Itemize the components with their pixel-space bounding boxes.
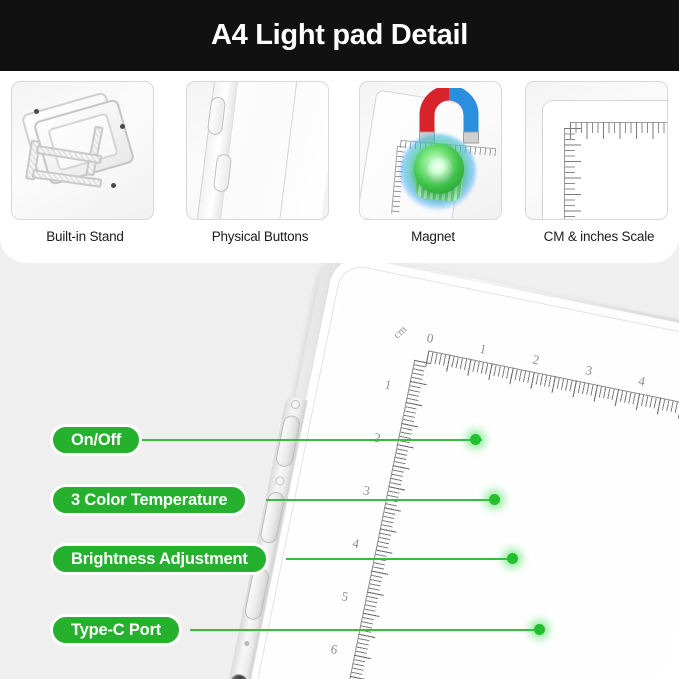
callout-type-c-port[interactable]: Type-C Port: [50, 614, 182, 646]
feature-card-built-in-stand[interactable]: Built-in Stand: [11, 81, 159, 244]
product-detail-page: A4 Light pad Detail Built-in Stand: [0, 0, 679, 679]
callout-label-brightness[interactable]: Brightness Adjustment: [50, 543, 269, 575]
feature-panel: Built-in Stand Physical Buttons: [0, 71, 679, 263]
callout-on-off[interactable]: On/Off: [50, 424, 142, 456]
callout-color-temperature[interactable]: 3 Color Temperature: [50, 484, 248, 516]
ruler-tick-h: 1: [478, 341, 488, 358]
feature-label-built-in-stand: Built-in Stand: [11, 229, 159, 244]
ruler-tick-v: 3: [362, 482, 372, 499]
scale-ruler-horizontal-major: [570, 122, 668, 139]
light-pad-device: cm 0 1 2 3 4 5 6 7 8 9 1 2 3 4 5 6: [208, 263, 679, 679]
callout-label-on-off[interactable]: On/Off: [50, 424, 142, 456]
feature-card-magnet[interactable]: Magnet: [359, 81, 507, 244]
callout-line: [140, 439, 482, 441]
ruler-tick-v: 1: [383, 377, 393, 394]
hero-product-area: cm 0 1 2 3 4 5 6 7 8 9 1 2 3 4 5 6: [0, 263, 679, 679]
callout-dot: [470, 434, 481, 445]
ruler-tick-v: 4: [351, 535, 361, 552]
callout-dot: [534, 624, 545, 635]
magnet-green-cylinder: [414, 144, 464, 194]
magnet-cylinder-core: [425, 155, 453, 183]
feature-image-scale: [525, 81, 668, 220]
ruler-unit-label: cm: [391, 323, 409, 341]
callout-label-color-temperature[interactable]: 3 Color Temperature: [50, 484, 248, 516]
header-banner: A4 Light pad Detail: [0, 0, 679, 71]
feature-image-built-in-stand: [11, 81, 154, 220]
panel-ruler-vertical-major: [321, 360, 431, 679]
stand-screw-dot: [120, 124, 125, 129]
ruler-tick-v: 5: [340, 588, 350, 605]
ruler-tick-h: 3: [584, 362, 594, 379]
feature-label-physical-buttons: Physical Buttons: [186, 229, 334, 244]
stand-screw-dot: [34, 109, 39, 114]
feature-thumbnail-row: Built-in Stand Physical Buttons: [0, 71, 679, 263]
stand-screw-dot: [111, 183, 116, 188]
callout-dot: [507, 553, 518, 564]
callout-dot: [489, 494, 500, 505]
ruler-tick-v: 6: [329, 641, 339, 658]
panel-ruler-horizontal-major: [425, 350, 679, 472]
feature-image-physical-buttons: [186, 81, 329, 220]
feature-card-physical-buttons[interactable]: Physical Buttons: [186, 81, 334, 244]
callout-line: [190, 629, 542, 631]
callout-brightness[interactable]: Brightness Adjustment: [50, 543, 269, 575]
callout-line: [286, 558, 516, 560]
ruler-tick-h: 4: [637, 373, 647, 390]
feature-card-scale[interactable]: CM & inches Scale: [525, 81, 673, 244]
feature-label-magnet: Magnet: [359, 229, 507, 244]
scale-pad-corner: [542, 100, 668, 220]
ruler-tick-h: 2: [531, 352, 541, 369]
ruler-tick-v: 2: [372, 429, 382, 446]
feature-label-scale: CM & inches Scale: [525, 229, 673, 244]
callout-label-type-c-port[interactable]: Type-C Port: [50, 614, 182, 646]
ruler-tick-h: 0: [425, 330, 435, 347]
scale-ruler-vertical-major: [564, 128, 581, 220]
page-title: A4 Light pad Detail: [211, 19, 468, 52]
callout-line: [266, 499, 498, 501]
feature-image-magnet: [359, 81, 502, 220]
